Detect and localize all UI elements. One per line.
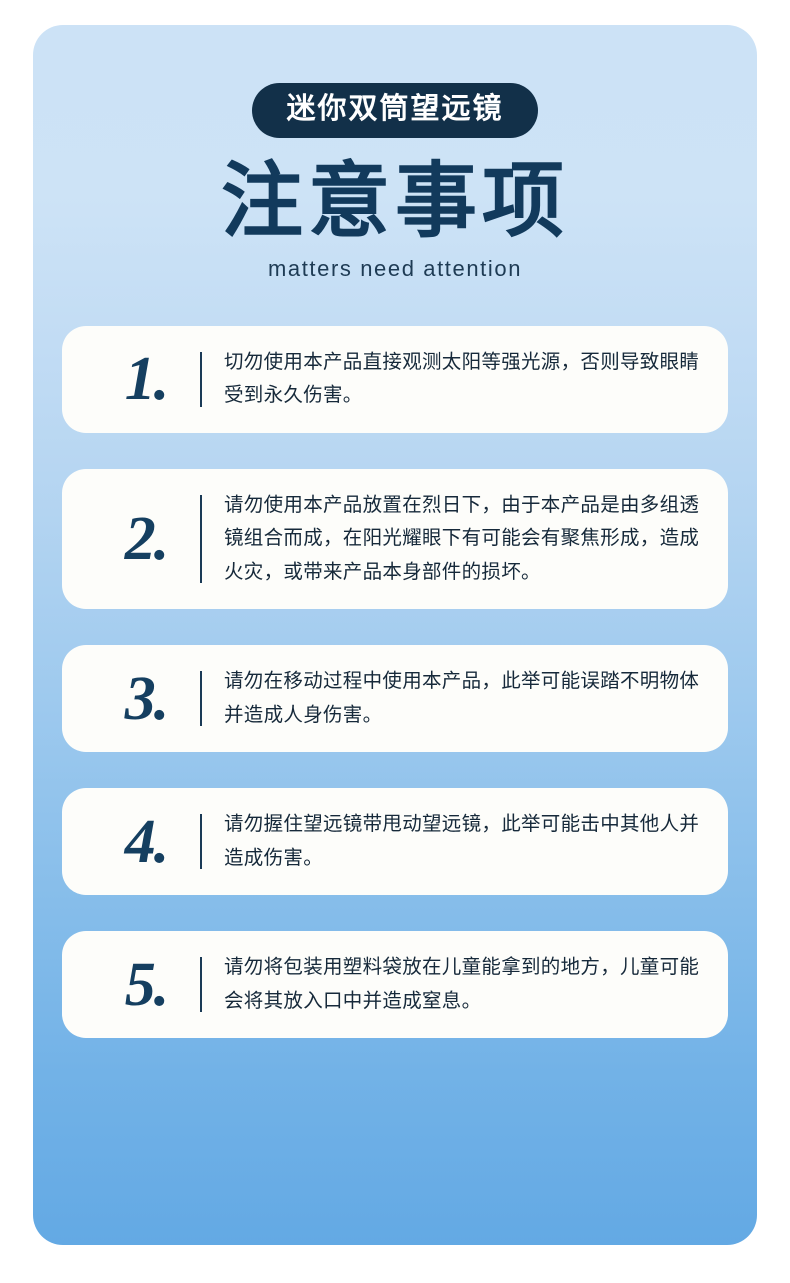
notice-number: 1.: [92, 348, 200, 410]
notice-panel: 迷你双筒望远镜 注意事项 matters need attention 1. 切…: [33, 25, 757, 1245]
page-title: 注意事项: [33, 160, 757, 244]
list-item: 1. 切勿使用本产品直接观测太阳等强光源，否则导致眼睛受到永久伤害。: [62, 326, 728, 433]
notice-text: 请勿在移动过程中使用本产品，此举可能误踏不明物体并造成人身伤害。: [202, 665, 702, 732]
product-name-badge: 迷你双筒望远镜: [252, 83, 537, 138]
notice-text: 请勿握住望远镜带甩动望远镜，此举可能击中其他人并造成伤害。: [202, 808, 702, 875]
notice-number: 4.: [92, 811, 200, 873]
notice-list: 1. 切勿使用本产品直接观测太阳等强光源，否则导致眼睛受到永久伤害。 2. 请勿…: [33, 326, 757, 1039]
notice-text: 请勿将包装用塑料袋放在儿童能拿到的地方，儿童可能会将其放入口中并造成窒息。: [202, 951, 702, 1018]
list-item: 4. 请勿握住望远镜带甩动望远镜，此举可能击中其他人并造成伤害。: [62, 788, 728, 895]
list-item: 3. 请勿在移动过程中使用本产品，此举可能误踏不明物体并造成人身伤害。: [62, 645, 728, 752]
list-item: 2. 请勿使用本产品放置在烈日下，由于本产品是由多组透镜组合而成，在阳光耀眼下有…: [62, 469, 728, 610]
page-subtitle: matters need attention: [33, 258, 757, 280]
notice-text: 请勿使用本产品放置在烈日下，由于本产品是由多组透镜组合而成，在阳光耀眼下有可能会…: [202, 489, 702, 590]
notice-number: 3.: [92, 668, 200, 730]
notice-number: 2.: [92, 508, 200, 570]
list-item: 5. 请勿将包装用塑料袋放在儿童能拿到的地方，儿童可能会将其放入口中并造成窒息。: [62, 931, 728, 1038]
notice-text: 切勿使用本产品直接观测太阳等强光源，否则导致眼睛受到永久伤害。: [202, 346, 702, 413]
notice-number: 5.: [92, 954, 200, 1016]
page-header: 迷你双筒望远镜 注意事项 matters need attention: [33, 25, 757, 280]
